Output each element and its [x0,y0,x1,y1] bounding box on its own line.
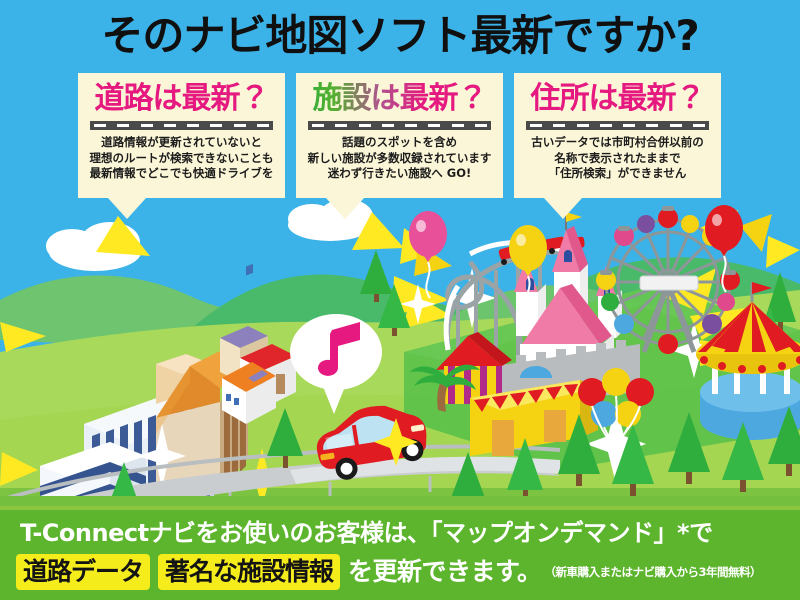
callout-road-line-1: 道路情報が更新されていないと [84,135,279,151]
callout-facility-title: 施設は最新？ [302,80,497,118]
road-dashed-rule-icon [90,121,273,130]
promo-banner-headline: T-Connectナビをお使いのお客様は、「マップオンデマンド」*で [20,518,713,548]
road-dashed-rule-icon [308,121,491,130]
callout-facility-line-3: 迷わず行きたい施設へ GO! [302,166,497,182]
callout-facility-tail [326,198,364,219]
callout-facility-line-1: 話題のスポットを含め [302,135,497,151]
callout-facility-line-2: 新しい施設が多数収録されています [302,151,497,167]
chip-facility-info: 著名な施設情報 [158,554,340,590]
poster: そのナビ地図ソフト最新ですか? 道路は最新？ 道路情報が更新されていないと 理想… [0,0,800,600]
callout-address-tail [544,198,582,219]
callout-address-line-3: 「住所検索」ができません [520,166,715,182]
callout-road-line-3: 最新情報でどこでも快適ドライブを [84,166,279,182]
callout-address-title: 住所は最新？ [520,80,715,118]
promo-banner-footnote: （新車購入またはナビ購入から3年間無料） [545,564,762,580]
callout-group: 道路は最新？ 道路情報が更新されていないと 理想のルートが検索できないことも 最… [0,73,800,223]
road-dashed-rule-icon [526,121,709,130]
callout-road: 道路は最新？ 道路情報が更新されていないと 理想のルートが検索できないことも 最… [78,73,285,198]
callout-facility: 施設は最新？ 話題のスポットを含め 新しい施設が多数収録されています 迷わず行き… [296,73,503,198]
promo-banner: T-Connectナビをお使いのお客様は、「マップオンデマンド」*で 道路データ… [0,506,800,600]
headline-band: そのナビ地図ソフト最新ですか? [0,0,800,72]
chip-road-data: 道路データ [16,554,150,590]
callout-address-line-1: 古いデータでは市町村合併以前の [520,135,715,151]
callout-address-line-2: 名称で表示されたままで [520,151,715,167]
callout-road-tail [108,198,146,219]
promo-banner-tail-text: を更新できます。 [348,557,542,587]
callout-road-title: 道路は最新？ [84,80,279,118]
callout-road-line-2: 理想のルートが検索できないことも [84,151,279,167]
page-title: そのナビ地図ソフト最新ですか? [0,8,800,64]
promo-banner-subline: 道路データ 著名な施設情報 を更新できます。 （新車購入またはナビ購入から3年間… [16,554,761,590]
callout-address: 住所は最新？ 古いデータでは市町村合併以前の 名称で表示されたままで 「住所検索… [514,73,721,198]
